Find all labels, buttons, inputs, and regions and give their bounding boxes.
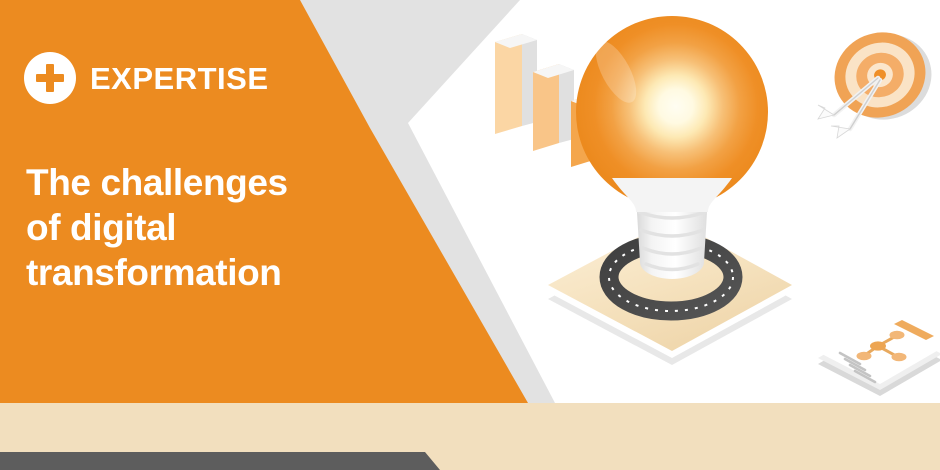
bar-1-front bbox=[495, 34, 522, 134]
marketing-banner: EXPERTISE The challenges of digital tran… bbox=[0, 0, 940, 470]
page-title: The challenges of digital transformation bbox=[26, 160, 386, 295]
lightbulb-icon bbox=[576, 16, 768, 279]
report-document-icon bbox=[818, 316, 940, 396]
plus-circle-icon bbox=[24, 52, 76, 104]
brand-logo: EXPERTISE bbox=[24, 52, 269, 104]
bulb-neck bbox=[612, 178, 732, 212]
illustration bbox=[440, 0, 940, 420]
node-top bbox=[890, 331, 905, 340]
target-icon bbox=[818, 19, 940, 138]
dark-bottom-band bbox=[0, 452, 440, 470]
brand-name: EXPERTISE bbox=[90, 63, 269, 94]
node-right bbox=[892, 353, 907, 362]
node-left bbox=[857, 352, 872, 361]
node-center bbox=[870, 341, 886, 350]
